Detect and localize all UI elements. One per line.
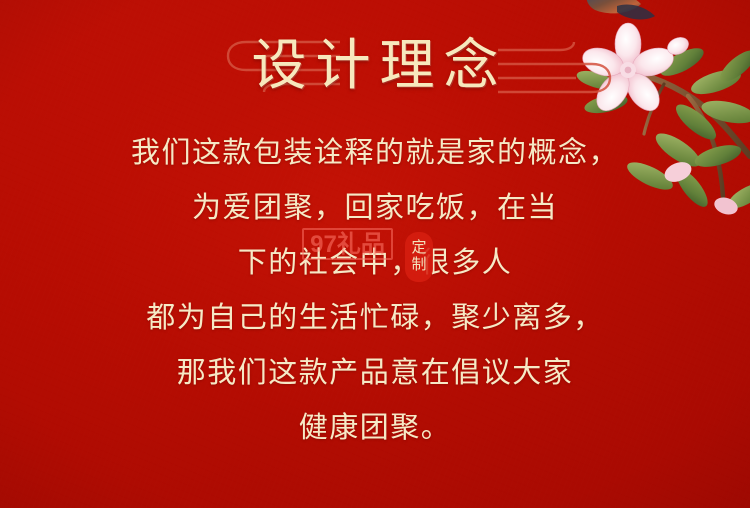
body-line: 都为自己的生活忙碌，聚少离多， (0, 291, 750, 346)
body-line: 健康团聚。 (0, 401, 750, 456)
body-line: 下的社会中，很多人 (0, 236, 750, 291)
body-line: 那我们这款产品意在倡议大家 (0, 346, 750, 401)
body-paragraph: 我们这款包装诠释的就是家的概念， 为爱团聚，回家吃饭，在当 下的社会中，很多人 … (0, 126, 750, 456)
page-title: 设计理念 (0, 22, 750, 110)
title-block: 设计理念 (0, 22, 750, 114)
poster-canvas: 设计理念 我们这款包装诠释的就是家的概念， 为爱团聚，回家吃饭，在当 下的社会中… (0, 0, 750, 508)
body-line: 为爱团聚，回家吃饭，在当 (0, 181, 750, 236)
body-line: 我们这款包装诠释的就是家的概念， (0, 126, 750, 181)
